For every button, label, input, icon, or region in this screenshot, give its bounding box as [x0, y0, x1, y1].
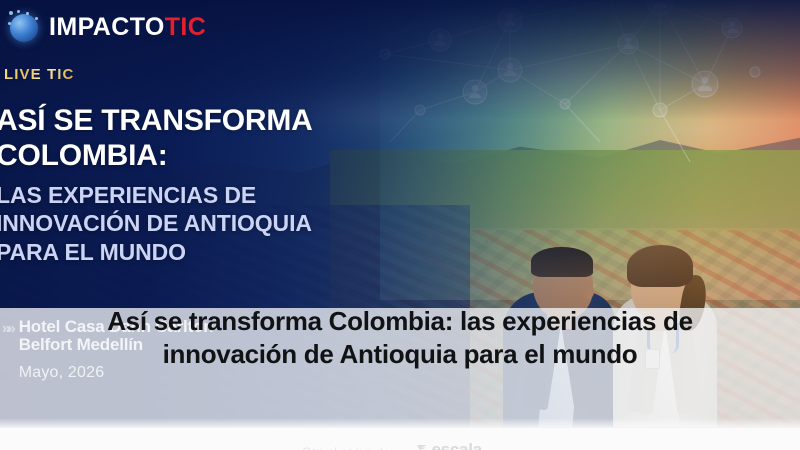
escala-sponsor-logo[interactable]: escala .co	[416, 440, 498, 450]
logo-word-impacto: IMPACTO	[49, 13, 165, 41]
headline-main: ASÍ SE TRANSFORMA COLOMBIA:	[0, 104, 416, 174]
promo-banner-screenshot: IMPACTOTIC LIVE TIC ASÍ SE TRANSFORMA CO…	[0, 0, 800, 450]
logo-dot	[9, 11, 13, 15]
headline-line-2: COLOMBIA:	[0, 139, 416, 174]
logo-dot	[8, 22, 11, 25]
logo-word-tic: TIC	[165, 13, 206, 41]
sponsor-prefix-text: Con el apoyo de	[302, 445, 389, 450]
escala-wordmark: escala	[432, 440, 482, 450]
logo-sphere-shape	[10, 14, 38, 42]
escala-stripes-icon	[416, 443, 429, 450]
subheadline-line-1: LAS EXPERIENCIAS DE	[0, 182, 416, 210]
logo-dot	[17, 10, 20, 13]
logo-dot	[26, 12, 29, 15]
logo-dot	[35, 17, 38, 20]
subheadline-line-2: INNOVACIÓN DE ANTIOQUIA	[0, 210, 416, 238]
logo-wordmark: IMPACTOTIC	[49, 15, 206, 40]
page-title: Así se transforma Colombia: las experien…	[45, 305, 755, 371]
sphere-network-logo-icon	[8, 10, 42, 44]
sponsor-strip: Con el apoyo de escala .co	[0, 427, 800, 450]
banner-headline-block: ASÍ SE TRANSFORMA COLOMBIA: LAS EXPERIEN…	[0, 104, 416, 267]
headline-line-1: ASÍ SE TRANSFORMA	[0, 104, 416, 139]
headline-sub: LAS EXPERIENCIAS DE INNOVACIÓN DE ANTIOQ…	[0, 182, 416, 267]
live-tic-badge: LIVE TIC	[4, 66, 74, 83]
impacto-tic-logo[interactable]: IMPACTOTIC	[8, 10, 206, 44]
subheadline-line-3: PARA EL MUNDO	[0, 239, 416, 267]
